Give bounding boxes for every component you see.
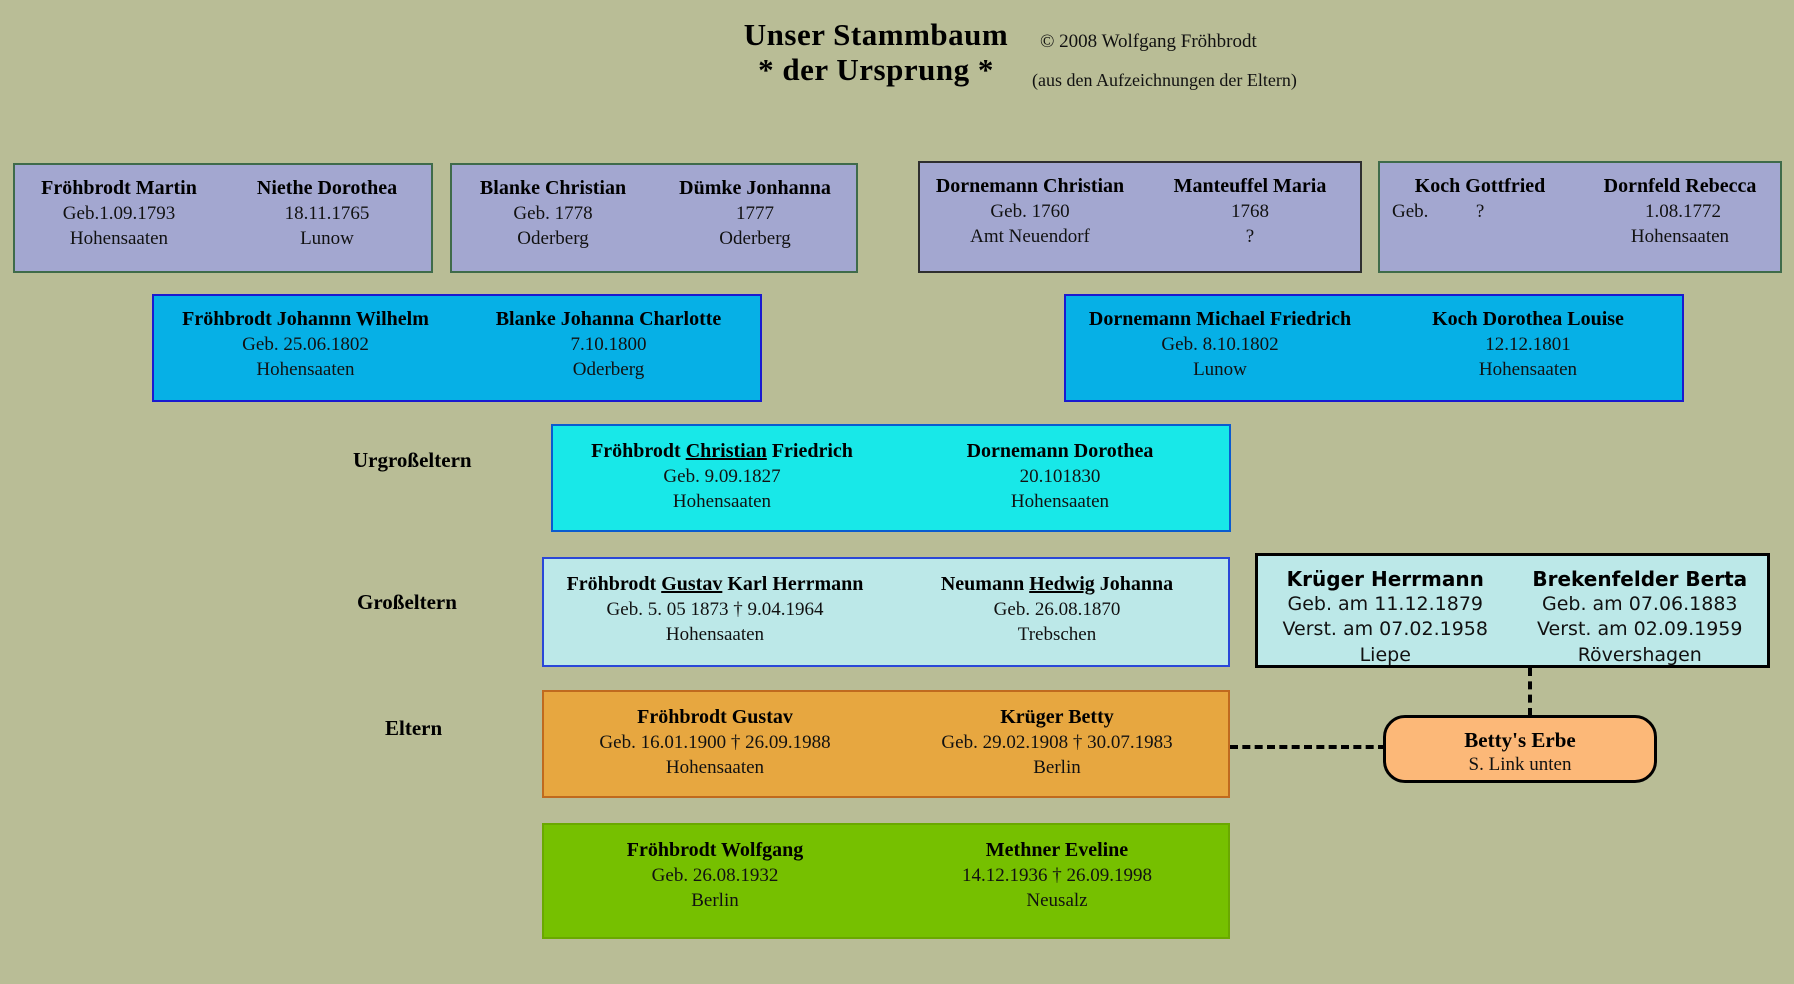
title-line-1: Unser Stammbaum: [716, 18, 1036, 53]
person-name-right: Methner Eveline: [886, 838, 1228, 863]
birth-right: 1777: [654, 201, 856, 226]
title-line-2: * der Ursprung *: [716, 53, 1036, 88]
birth-row: Geb. 5. 05 1873 † 9.04.1964 Geb. 26.08.1…: [544, 597, 1228, 622]
person-box-kinder[interactable]: Fröhbrodt Wolfgang Methner Eveline Geb. …: [542, 823, 1230, 939]
birth-left: Geb. 25.06.1802: [154, 332, 457, 357]
place-right: Lunow: [223, 226, 431, 251]
names-row: Fröhbrodt Johannn Wilhelm Blanke Johanna…: [154, 307, 760, 332]
bettys-erbe-title: Betty's Erbe: [1386, 728, 1654, 753]
place-left: Hohensaaten: [553, 489, 891, 514]
generation-label-urgrosseltern: Urgroßeltern: [353, 448, 472, 473]
place-left: Liepe: [1258, 643, 1513, 668]
place-left: Hohensaaten: [154, 357, 457, 382]
person-name-left: Fröhbrodt Martin: [15, 176, 223, 201]
birth-row: Geb.1.09.1793 18.11.1765: [15, 201, 431, 226]
birth-left: Geb. 1760: [920, 199, 1140, 224]
birth-left: Geb. ?: [1380, 199, 1586, 224]
person-name-right: Neumann Hedwig Johanna: [886, 572, 1228, 597]
birth-left: Geb.1.09.1793: [15, 201, 223, 226]
place-right: Rövershagen: [1513, 643, 1768, 668]
place-row: Liepe Rövershagen: [1258, 643, 1767, 668]
person-box-eltern[interactable]: Fröhbrodt Gustav Krüger Betty Geb. 16.01…: [542, 690, 1230, 798]
person-name-right: Manteuffel Maria: [1140, 174, 1360, 199]
names-row: Fröhbrodt Martin Niethe Dorothea: [15, 176, 431, 201]
copyright-notice: © 2008 Wolfgang Fröhbrodt: [1040, 31, 1257, 53]
birth-right: 7.10.1800: [457, 332, 760, 357]
person-name-left: Krüger Herrmann: [1258, 567, 1513, 592]
generation-label-grosseltern: Großeltern: [357, 590, 457, 615]
person-box-grosseltern[interactable]: Fröhbrodt Gustav Karl Herrmann Neumann H…: [542, 557, 1230, 667]
place-right: ?: [1140, 224, 1360, 249]
birth-left: Geb. 8.10.1802: [1066, 332, 1374, 357]
birth-left: Geb. 1778: [452, 201, 654, 226]
page-title: Unser Stammbaum * der Ursprung *: [716, 18, 1036, 87]
names-row: Dornemann Michael Friedrich Koch Dorothe…: [1066, 307, 1682, 332]
person-box-koch-dornfeld[interactable]: Koch Gottfried Dornfeld Rebecca Geb. ? 1…: [1378, 161, 1782, 273]
birth-right: 12.12.1801: [1374, 332, 1682, 357]
person-name-right: Brekenfelder Berta: [1513, 567, 1768, 592]
place-right: Hohensaaten: [1580, 224, 1780, 249]
person-name-right: Krüger Betty: [886, 705, 1228, 730]
place-right: Hohensaaten: [1374, 357, 1682, 382]
person-name-right: Niethe Dorothea: [223, 176, 431, 201]
names-row: Krüger Herrmann Brekenfelder Berta: [1258, 567, 1767, 592]
birth-right: Geb. 26.08.1870: [886, 597, 1228, 622]
person-name-left: Fröhbrodt Wolfgang: [544, 838, 886, 863]
person-name-right: Blanke Johanna Charlotte: [457, 307, 760, 332]
birth-right: 20.101830: [891, 464, 1229, 489]
person-box-kruger-brekenfelder[interactable]: Krüger Herrmann Brekenfelder Berta Geb. …: [1255, 553, 1770, 668]
birth-right: 14.12.1936 † 26.09.1998: [886, 863, 1228, 888]
place-left: Hohensaaten: [544, 755, 886, 780]
person-box-blanke-dumke[interactable]: Blanke Christian Dümke Jonhanna Geb. 177…: [450, 163, 858, 273]
place-left: [1380, 224, 1580, 249]
birth-right: 18.11.1765: [223, 201, 431, 226]
birth-right: Geb. am 07.06.1883: [1513, 592, 1768, 617]
birth-row: Geb. am 11.12.1879 Geb. am 07.06.1883: [1258, 592, 1767, 617]
names-row: Fröhbrodt Wolfgang Methner Eveline: [544, 838, 1228, 863]
person-name-right: Koch Dorothea Louise: [1374, 307, 1682, 332]
place-left: Oderberg: [452, 226, 654, 251]
person-name-right: Dornemann Dorothea: [891, 439, 1229, 464]
names-row: Koch Gottfried Dornfeld Rebecca: [1380, 174, 1780, 199]
place-left: Berlin: [544, 888, 886, 913]
place-right: Trebschen: [886, 622, 1228, 647]
place-row: Lunow Hohensaaten: [1066, 357, 1682, 382]
names-row: Fröhbrodt Gustav Krüger Betty: [544, 705, 1228, 730]
person-box-frohbrodt-niethe[interactable]: Fröhbrodt Martin Niethe Dorothea Geb.1.0…: [13, 163, 433, 273]
birth-left: Geb. 5. 05 1873 † 9.04.1964: [544, 597, 886, 622]
birth-row: Geb. 1760 1768: [920, 199, 1360, 224]
person-name-left: Fröhbrodt Gustav Karl Herrmann: [544, 572, 886, 597]
birth-left: Geb. 16.01.1900 † 26.09.1988: [544, 730, 886, 755]
birth-row: Geb. 26.08.1932 14.12.1936 † 26.09.1998: [544, 863, 1228, 888]
person-name-left: Fröhbrodt Christian Friedrich: [553, 439, 891, 464]
birth-row: Geb. 25.06.1802 7.10.1800: [154, 332, 760, 357]
names-row: Fröhbrodt Christian Friedrich Dornemann …: [553, 439, 1229, 464]
birth-row: Geb. ? 1.08.1772: [1380, 199, 1780, 224]
names-row: Fröhbrodt Gustav Karl Herrmann Neumann H…: [544, 572, 1228, 597]
place-right: Oderberg: [654, 226, 856, 251]
family-tree-canvas: Unser Stammbaum * der Ursprung * © 2008 …: [0, 0, 1794, 984]
person-name-left: Blanke Christian: [452, 176, 654, 201]
birth-right: Geb. 29.02.1908 † 30.07.1983: [886, 730, 1228, 755]
death-left: Verst. am 07.02.1958: [1258, 617, 1513, 642]
person-box-frohbrodt-blanke[interactable]: Fröhbrodt Johannn Wilhelm Blanke Johanna…: [152, 294, 762, 402]
birth-left: Geb. 26.08.1932: [544, 863, 886, 888]
connector-eltern-to-erbe: [1230, 745, 1386, 749]
birth-left: Geb. am 11.12.1879: [1258, 592, 1513, 617]
names-row: Blanke Christian Dümke Jonhanna: [452, 176, 856, 201]
person-name-left: Koch Gottfried: [1380, 174, 1580, 199]
birth-row: Geb. 1778 1777: [452, 201, 856, 226]
place-right: Oderberg: [457, 357, 760, 382]
place-row: Hohensaaten: [1380, 224, 1780, 249]
person-box-dornemann-manteuffel[interactable]: Dornemann Christian Manteuffel Maria Geb…: [918, 161, 1362, 273]
person-name-left: Fröhbrodt Gustav: [544, 705, 886, 730]
person-name-right: Dornfeld Rebecca: [1580, 174, 1780, 199]
birth-left: Geb. 9.09.1827: [553, 464, 891, 489]
place-right: Hohensaaten: [891, 489, 1229, 514]
person-name-right: Dümke Jonhanna: [654, 176, 856, 201]
place-left: Hohensaaten: [544, 622, 886, 647]
bettys-erbe-node[interactable]: Betty's Erbe S. Link unten: [1383, 715, 1657, 783]
place-row: Hohensaaten Lunow: [15, 226, 431, 251]
place-left: Amt Neuendorf: [920, 224, 1140, 249]
place-right: Berlin: [886, 755, 1228, 780]
death-row: Verst. am 07.02.1958 Verst. am 02.09.195…: [1258, 617, 1767, 642]
source-note: (aus den Aufzeichnungen der Eltern): [1032, 70, 1297, 91]
place-row: Oderberg Oderberg: [452, 226, 856, 251]
place-right: Neusalz: [886, 888, 1228, 913]
place-row: Hohensaaten Hohensaaten: [553, 489, 1229, 514]
names-row: Dornemann Christian Manteuffel Maria: [920, 174, 1360, 199]
person-name-left: Dornemann Michael Friedrich: [1066, 307, 1374, 332]
connector-kruger-to-erbe: [1528, 668, 1532, 716]
place-row: Hohensaaten Oderberg: [154, 357, 760, 382]
bettys-erbe-subtitle: S. Link unten: [1386, 753, 1654, 777]
person-name-left: Dornemann Christian: [920, 174, 1140, 199]
place-row: Hohensaaten Berlin: [544, 755, 1228, 780]
place-left: Hohensaaten: [15, 226, 223, 251]
generation-label-eltern: Eltern: [385, 716, 442, 741]
place-row: Berlin Neusalz: [544, 888, 1228, 913]
person-name-left: Fröhbrodt Johannn Wilhelm: [154, 307, 457, 332]
person-box-urgrosseltern[interactable]: Fröhbrodt Christian Friedrich Dornemann …: [551, 424, 1231, 532]
birth-row: Geb. 9.09.1827 20.101830: [553, 464, 1229, 489]
person-box-dornemann-koch[interactable]: Dornemann Michael Friedrich Koch Dorothe…: [1064, 294, 1684, 402]
birth-row: Geb. 8.10.1802 12.12.1801: [1066, 332, 1682, 357]
birth-right: 1768: [1140, 199, 1360, 224]
place-row: Hohensaaten Trebschen: [544, 622, 1228, 647]
birth-right: 1.08.1772: [1586, 199, 1780, 224]
death-right: Verst. am 02.09.1959: [1513, 617, 1768, 642]
birth-row: Geb. 16.01.1900 † 26.09.1988 Geb. 29.02.…: [544, 730, 1228, 755]
place-row: Amt Neuendorf ?: [920, 224, 1360, 249]
place-left: Lunow: [1066, 357, 1374, 382]
